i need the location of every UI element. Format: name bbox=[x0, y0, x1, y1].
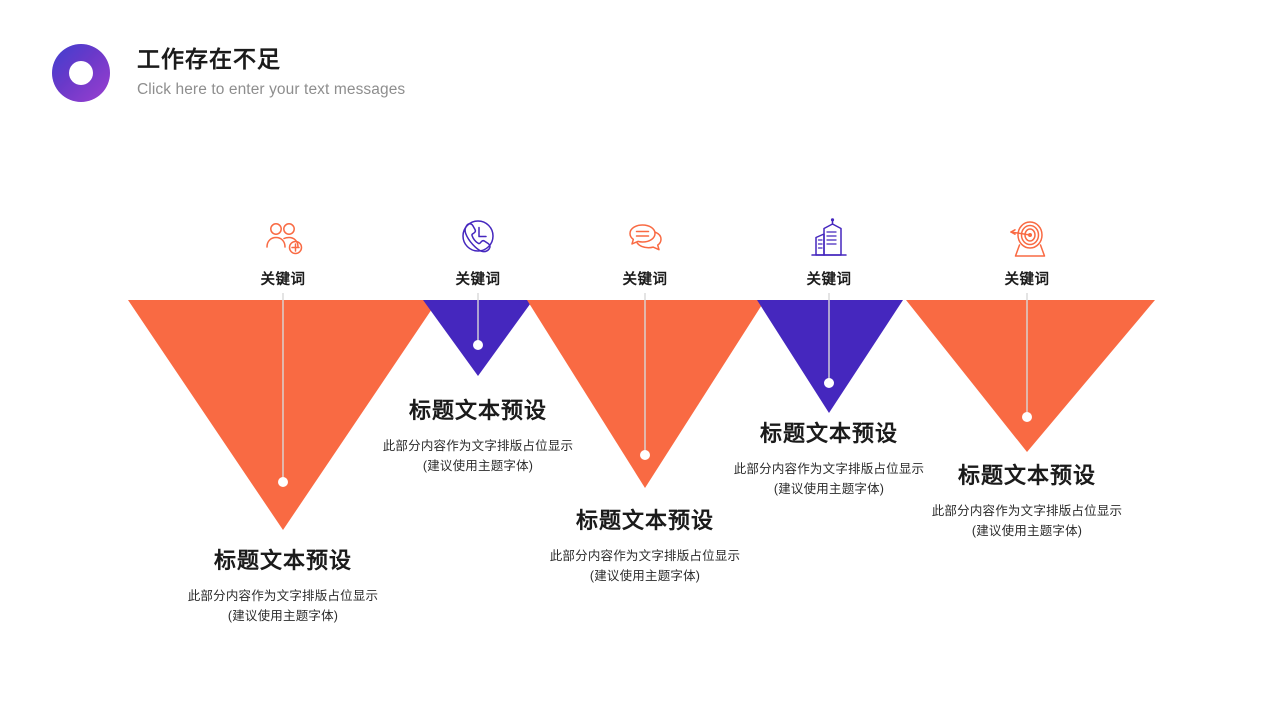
block-description-line2: (建议使用主题字体) bbox=[123, 607, 443, 626]
keyword-node-3[interactable]: 关键词 bbox=[575, 216, 715, 289]
block-description: 此部分内容作为文字排版占位显示 (建议使用主题字体) bbox=[485, 547, 805, 586]
block-description: 此部分内容作为文字排版占位显示 (建议使用主题字体) bbox=[123, 587, 443, 626]
block-description-line1: 此部分内容作为文字排版占位显示 bbox=[123, 587, 443, 606]
target-arrow-icon[interactable] bbox=[1004, 216, 1050, 262]
buildings-icon[interactable] bbox=[806, 216, 852, 262]
connector-dot bbox=[278, 477, 288, 487]
block-description-line1: 此部分内容作为文字排版占位显示 bbox=[867, 502, 1187, 521]
block-title: 标题文本预设 bbox=[669, 421, 989, 447]
text-block-1[interactable]: 标题文本预设 此部分内容作为文字排版占位显示 (建议使用主题字体) bbox=[123, 548, 443, 626]
block-description-line2: (建议使用主题字体) bbox=[318, 457, 638, 476]
phone-clock-icon[interactable] bbox=[455, 216, 501, 262]
block-description: 此部分内容作为文字排版占位显示 (建议使用主题字体) bbox=[318, 437, 638, 476]
keyword-label: 关键词 bbox=[456, 268, 501, 289]
funnel-triangle bbox=[757, 300, 903, 413]
keyword-label: 关键词 bbox=[807, 268, 852, 289]
text-block-3[interactable]: 标题文本预设 此部分内容作为文字排版占位显示 (建议使用主题字体) bbox=[485, 508, 805, 586]
block-description-line1: 此部分内容作为文字排版占位显示 bbox=[485, 547, 805, 566]
block-description-line2: (建议使用主题字体) bbox=[867, 522, 1187, 541]
block-title: 标题文本预设 bbox=[485, 508, 805, 534]
block-description-line1: 此部分内容作为文字排版占位显示 bbox=[318, 437, 638, 456]
keyword-node-4[interactable]: 关键词 bbox=[759, 216, 899, 289]
diagram-stage: 关键词 关键词 关键词 关键词 bbox=[0, 0, 1280, 720]
add-users-icon[interactable] bbox=[260, 216, 306, 262]
keyword-node-2[interactable]: 关键词 bbox=[408, 216, 548, 289]
text-block-5[interactable]: 标题文本预设 此部分内容作为文字排版占位显示 (建议使用主题字体) bbox=[867, 463, 1187, 541]
keyword-label: 关键词 bbox=[261, 268, 306, 289]
connector-dot bbox=[473, 340, 483, 350]
keyword-node-5[interactable]: 关键词 bbox=[957, 216, 1097, 289]
text-block-2[interactable]: 标题文本预设 此部分内容作为文字排版占位显示 (建议使用主题字体) bbox=[318, 398, 638, 476]
block-title: 标题文本预设 bbox=[867, 463, 1187, 489]
connector-dot bbox=[824, 378, 834, 388]
connector-dot bbox=[1022, 412, 1032, 422]
connector-dot bbox=[640, 450, 650, 460]
keyword-label: 关键词 bbox=[623, 268, 668, 289]
block-title: 标题文本预设 bbox=[318, 398, 638, 424]
keyword-node-1[interactable]: 关键词 bbox=[213, 216, 353, 289]
block-description: 此部分内容作为文字排版占位显示 (建议使用主题字体) bbox=[867, 502, 1187, 541]
block-title: 标题文本预设 bbox=[123, 548, 443, 574]
keyword-label: 关键词 bbox=[1005, 268, 1050, 289]
block-description-line2: (建议使用主题字体) bbox=[485, 567, 805, 586]
chat-bubbles-icon[interactable] bbox=[622, 216, 668, 262]
